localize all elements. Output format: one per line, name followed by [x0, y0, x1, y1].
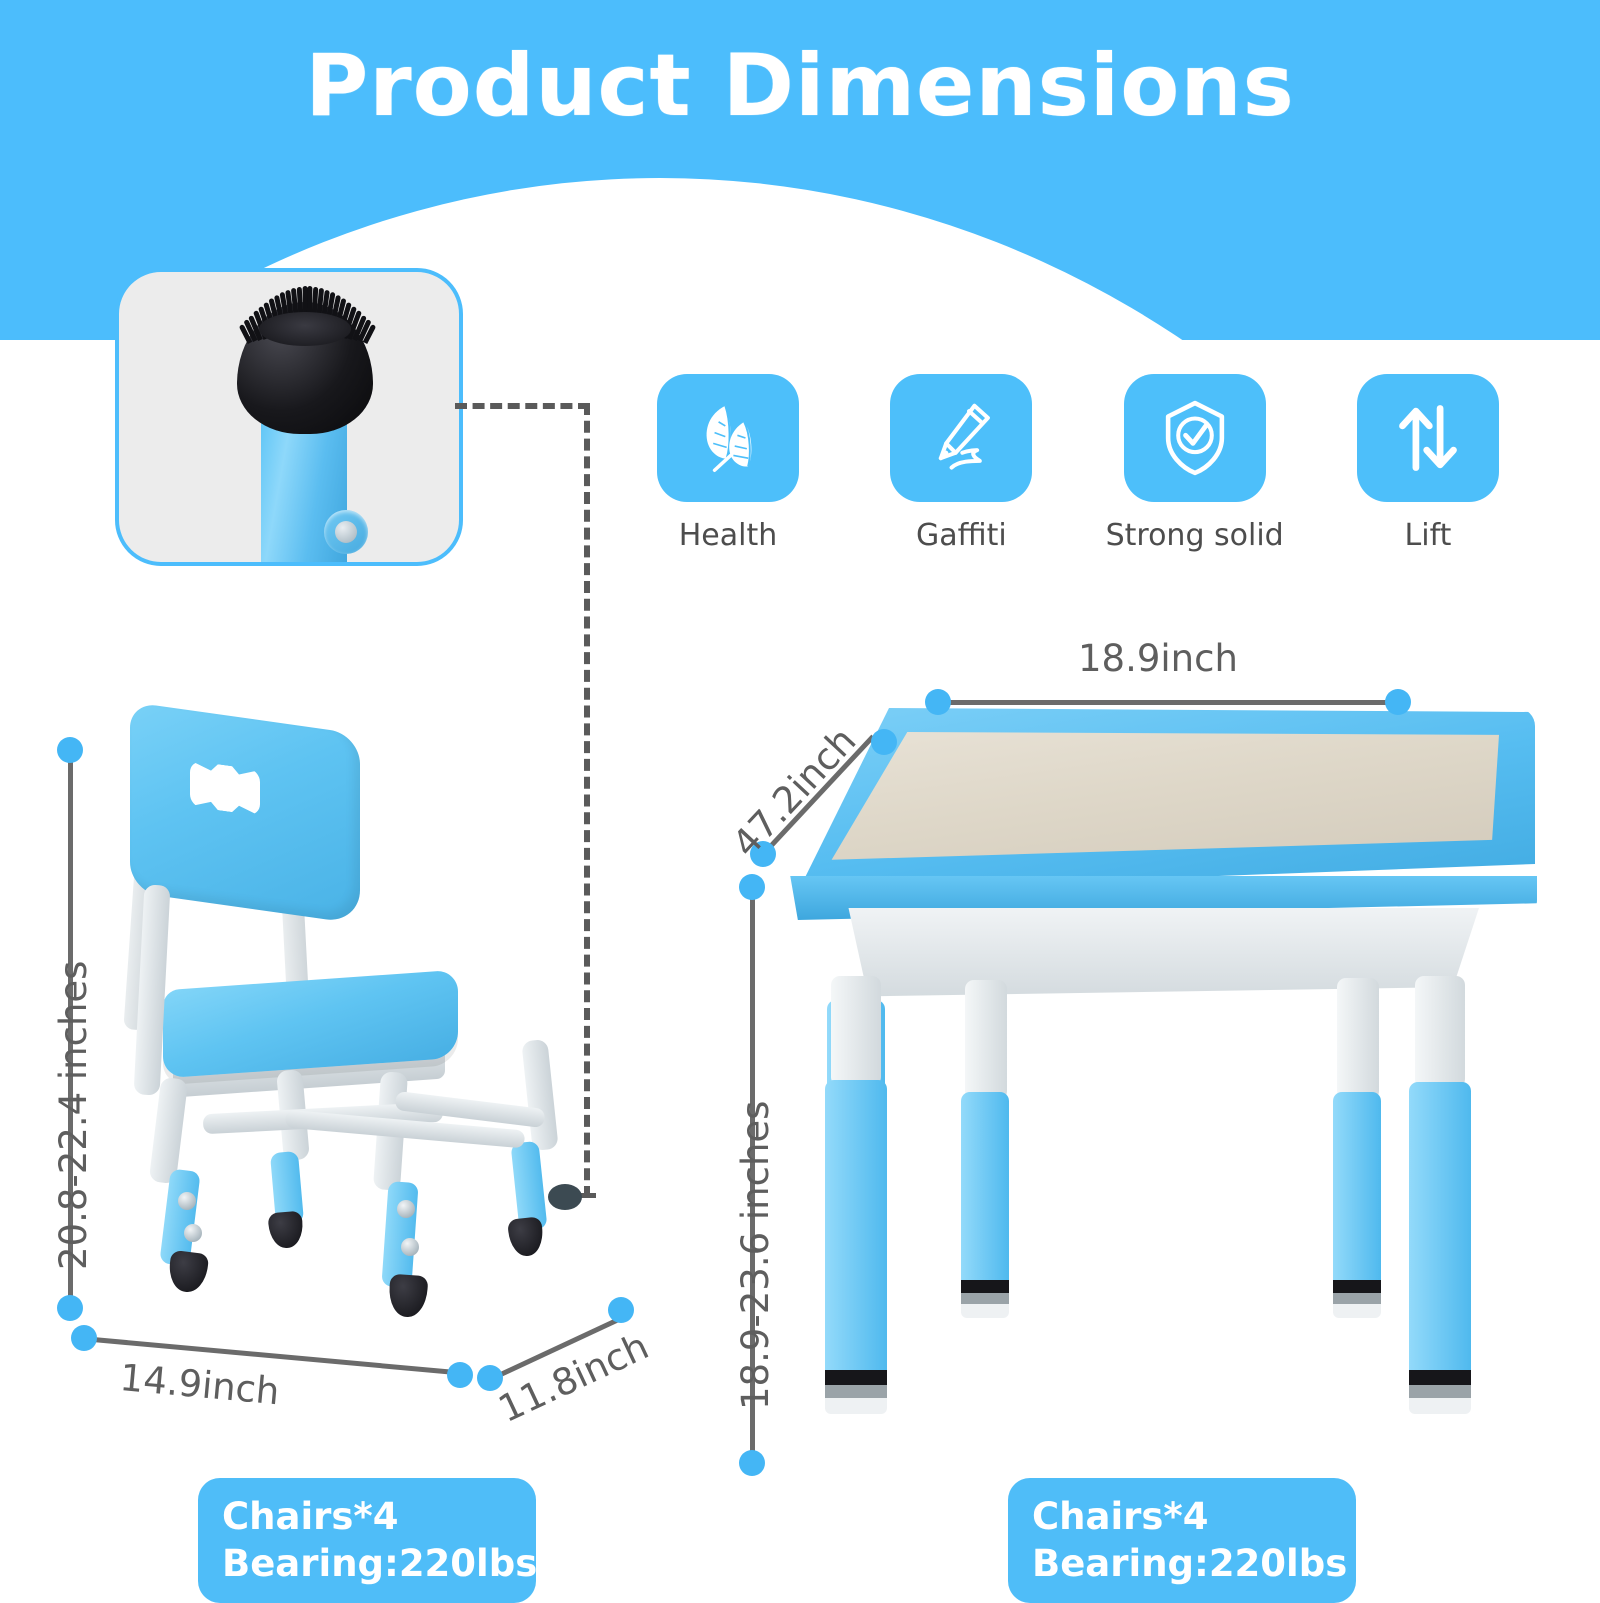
feature-gaffiti[interactable]: Gaffiti: [881, 374, 1041, 574]
table-foot-back-right: [1333, 1304, 1381, 1318]
chair-illustration: [95, 700, 655, 1320]
table-foot-mid-front-left: [825, 1385, 887, 1399]
table-foot-ring-front-left: [825, 1370, 887, 1386]
feature-label: Gaffiti: [916, 518, 1007, 553]
table-length-dot-top: [871, 729, 897, 755]
up-down-arrows-icon: [1385, 395, 1471, 481]
chair-foot-back-right: [507, 1216, 545, 1257]
chair-screw: [401, 1238, 419, 1256]
adjust-screw: [324, 510, 368, 554]
table-foot-ring-front-right: [1409, 1370, 1471, 1386]
feature-tile: [1124, 374, 1266, 502]
foot-cap-closeup-callout: [115, 268, 463, 566]
table-height-dot-top: [739, 874, 765, 900]
chair-foot-front-right: [388, 1274, 429, 1319]
shield-check-icon: [1152, 395, 1238, 481]
table-caption-badge: Chairs*4 Bearing:220lbs: [1008, 1478, 1356, 1603]
table-foot-ring-back-right: [1333, 1280, 1381, 1294]
table-foot-ring-back-left: [961, 1280, 1009, 1294]
leader-line-horizontal: [455, 403, 590, 409]
feature-strong-solid[interactable]: Strong solid: [1115, 374, 1275, 574]
table-foot-front-left: [825, 1398, 887, 1414]
chair-caption-badge: Chairs*4 Bearing:220lbs: [198, 1478, 536, 1603]
table-width-label: 18.9inch: [1078, 637, 1238, 680]
table-apron: [829, 908, 1479, 1000]
feature-icon-row: Health Gaffiti Strong solid: [648, 374, 1508, 574]
feature-tile: [1357, 374, 1499, 502]
table-foot-mid-front-right: [1409, 1385, 1471, 1399]
chair-screw: [397, 1200, 415, 1218]
feature-label: Health: [679, 518, 778, 553]
table-leg-front-right-lower: [1409, 1082, 1471, 1398]
feature-tile: [657, 374, 799, 502]
chair-leg-front-right-lower: [381, 1181, 418, 1288]
feature-label: Lift: [1405, 518, 1452, 553]
chair-leg-back-right-upper: [521, 1039, 558, 1151]
table-width-dot-left: [925, 689, 951, 715]
chair-depth-dot-right: [608, 1297, 634, 1323]
table-leg-front-left-extension: [825, 1080, 887, 1398]
table-foot-back-left: [961, 1304, 1009, 1318]
table-leg-back-left-upper: [965, 980, 1007, 1100]
foot-cap-top: [259, 312, 351, 346]
chair-screw: [178, 1192, 196, 1210]
table-width-line: [940, 700, 1402, 705]
table-leg-back-right-upper: [1337, 978, 1379, 1100]
chair-foot-front-left: [167, 1250, 210, 1294]
table-height-label: 18.9-23.6 inches: [734, 1101, 777, 1410]
chair-height-label: 20.8-22.4 inches: [52, 961, 95, 1270]
chair-width-dot-left: [71, 1325, 97, 1351]
chair-width-label: 14.9inch: [118, 1356, 281, 1413]
pencil-drawing-icon: [918, 395, 1004, 481]
chair-height-dot-bottom: [57, 1295, 83, 1321]
chair-foot-back-left: [267, 1211, 304, 1250]
chair-backrest-cutout: [190, 760, 260, 816]
table-leg-back-right-lower: [1333, 1092, 1381, 1302]
page-title: Product Dimensions: [0, 36, 1600, 136]
chair-screw: [184, 1224, 202, 1242]
chair-height-dot-top: [57, 737, 83, 763]
table-height-dot-bottom: [739, 1450, 765, 1476]
feature-health[interactable]: Health: [648, 374, 808, 574]
feature-label: Strong solid: [1106, 518, 1284, 553]
table-leg-back-left-lower: [961, 1092, 1009, 1302]
chair-width-dot-right: [447, 1362, 473, 1388]
feature-tile: [890, 374, 1032, 502]
table-foot-front-right: [1409, 1398, 1471, 1414]
table-illustration: [775, 680, 1565, 1480]
chair-depth-dot-left: [477, 1365, 503, 1391]
leaves-icon: [685, 395, 771, 481]
table-leg-front-right-upper: [1415, 976, 1465, 1088]
feature-lift[interactable]: Lift: [1348, 374, 1508, 574]
table-width-dot-right: [1385, 689, 1411, 715]
table-leg-front-left-upper: [831, 976, 881, 1086]
